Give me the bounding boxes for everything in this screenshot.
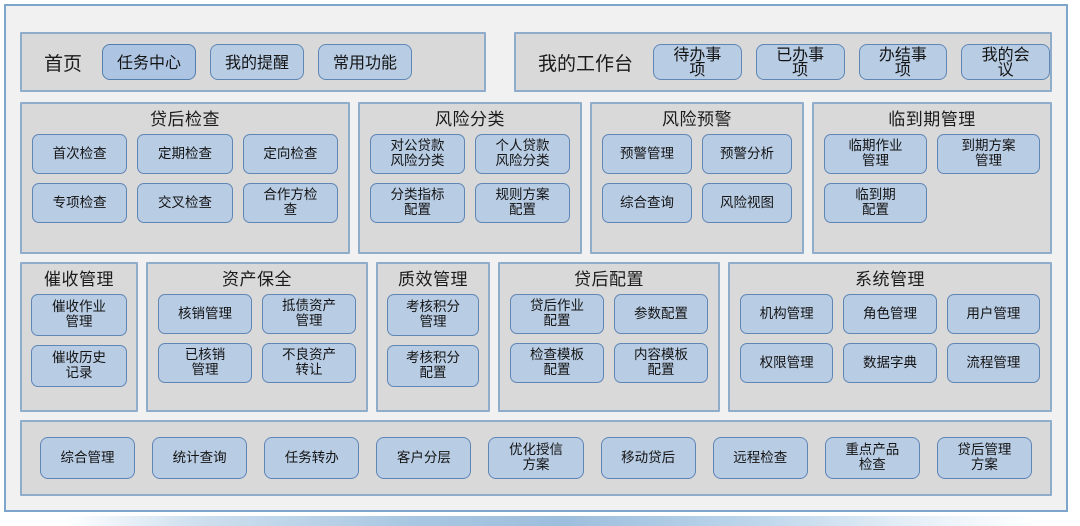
nav-button-done-items[interactable]: 已办事项 [756,44,845,80]
shortcut-button-post-loan-management-scheme[interactable]: 贷后管理 方案 [937,437,1032,479]
panel-risk-warning: 风险预警 预警管理 预警分析 综合查询 风险视图 [590,102,804,254]
menu-button-periodic-inspection[interactable]: 定期检查 [137,134,232,174]
nav-button-my-reminders[interactable]: 我的提醒 [210,44,304,80]
panel-grid-asset-preservation: 核销管理 抵债资产 管理 已核销 管理 不良资产 转让 [148,290,366,383]
panel-risk-classification: 风险分类 对公贷款 风险分类 个人贷款 风险分类 分类指标 配置 规则方案 配置 [358,102,582,254]
my-workbench-bar: 我的工作台 待办事项 已办事项 办结事项 我的会议 [514,32,1052,92]
panel-grid-quality-efficiency-management: 考核积分 管理 考核积分 配置 [378,290,488,387]
menu-button-warning-analysis[interactable]: 预警分析 [702,134,792,174]
shortcut-button-mobile-post-loan[interactable]: 移动贷后 [601,437,696,479]
menu-button-corporate-loan-risk-classification[interactable]: 对公贷款 风险分类 [370,134,465,174]
shortcut-button-key-product-inspection[interactable]: 重点产品 检查 [825,437,920,479]
shortcut-bar-inner: 综合管理 统计查询 任务转办 客户分层 优化授信 方案 移动贷后 远程检查 重点… [22,422,1050,494]
panel-system-management: 系统管理 机构管理 角色管理 用户管理 权限管理 数据字典 流程管理 [728,262,1052,412]
shortcut-bar: 综合管理 统计查询 任务转办 客户分层 优化授信 方案 移动贷后 远程检查 重点… [20,420,1052,496]
nav-button-common-functions[interactable]: 常用功能 [318,44,412,80]
panel-grid-post-loan-config: 贷后作业 配置 参数配置 检查模板 配置 内容模板 配置 [500,290,718,383]
menu-button-risk-view[interactable]: 风险视图 [702,183,792,223]
panel-grid-risk-warning: 预警管理 预警分析 综合查询 风险视图 [592,130,802,223]
panel-post-loan-config: 贷后配置 贷后作业 配置 参数配置 检查模板 配置 内容模板 配置 [498,262,720,412]
menu-button-content-template-config[interactable]: 内容模板 配置 [614,343,708,383]
menu-button-written-off-management[interactable]: 已核销 管理 [158,343,252,383]
panel-grid-post-loan-inspection: 首次检查 定期检查 定向检查 专项检查 交叉检查 合作方检 查 [22,130,348,223]
panel-title-risk-warning: 风险预警 [592,104,802,130]
menu-button-first-inspection[interactable]: 首次检查 [32,134,127,174]
panel-title-system-management: 系统管理 [730,264,1050,290]
panel-title-risk-classification: 风险分类 [360,104,580,130]
shortcut-button-statistical-query[interactable]: 统计查询 [152,437,247,479]
application-frame: 首页 任务中心 我的提醒 常用功能 我的工作台 待办事项 已办事项 办结事项 我… [4,4,1068,512]
panel-grid-collection-management: 催收作业 管理 催收历史 记录 [22,290,136,387]
panel-title-quality-efficiency-management: 质效管理 [378,264,488,290]
shortcut-button-comprehensive-management[interactable]: 综合管理 [40,437,135,479]
menu-button-role-management[interactable]: 角色管理 [843,294,936,334]
shortcut-button-customer-stratification[interactable]: 客户分层 [376,437,471,479]
my-workbench-label: 我的工作台 [538,49,633,76]
menu-button-user-management[interactable]: 用户管理 [947,294,1040,334]
menu-button-assessment-score-config[interactable]: 考核积分 配置 [387,345,479,387]
home-nav-bar: 首页 任务中心 我的提醒 常用功能 [20,32,486,92]
menu-button-parameter-config[interactable]: 参数配置 [614,294,708,334]
panel-grid-maturity-management: 临期作业 管理 到期方案 管理 临到期 配置 [814,130,1050,223]
nav-button-my-meetings[interactable]: 我的会议 [961,44,1050,80]
menu-button-permission-management[interactable]: 权限管理 [740,343,833,383]
panel-collection-management: 催收管理 催收作业 管理 催收历史 记录 [20,262,138,412]
menu-button-warning-management[interactable]: 预警管理 [602,134,692,174]
menu-button-directed-inspection[interactable]: 定向检查 [243,134,338,174]
menu-button-npl-transfer[interactable]: 不良资产 转让 [262,343,356,383]
panel-grid-system-management: 机构管理 角色管理 用户管理 权限管理 数据字典 流程管理 [730,290,1050,383]
my-workbench-inner: 我的工作台 待办事项 已办事项 办结事项 我的会议 [516,34,1050,90]
panel-quality-efficiency-management: 质效管理 考核积分 管理 考核积分 配置 [376,262,490,412]
menu-button-partner-inspection[interactable]: 合作方检 查 [243,183,338,223]
menu-button-maturity-config[interactable]: 临到期 配置 [824,183,927,223]
panel-title-post-loan-config: 贷后配置 [500,264,718,290]
menu-button-cross-inspection[interactable]: 交叉检查 [137,183,232,223]
menu-button-collection-task-management[interactable]: 催收作业 管理 [31,294,127,336]
nav-button-task-center[interactable]: 任务中心 [102,44,196,80]
menu-button-collection-history-record[interactable]: 催收历史 记录 [31,345,127,387]
panel-title-asset-preservation: 资产保全 [148,264,366,290]
menu-button-debt-paying-asset-management[interactable]: 抵债资产 管理 [262,294,356,334]
menu-button-write-off-management[interactable]: 核销管理 [158,294,252,334]
menu-button-comprehensive-query[interactable]: 综合查询 [602,183,692,223]
panel-title-collection-management: 催收管理 [22,264,136,290]
nav-button-completed-items[interactable]: 办结事项 [859,44,948,80]
panel-title-maturity-management: 临到期管理 [814,104,1050,130]
menu-button-inspection-template-config[interactable]: 检查模板 配置 [510,343,604,383]
menu-button-data-dictionary[interactable]: 数据字典 [843,343,936,383]
bottom-glow-decoration [0,516,1080,526]
menu-button-post-loan-task-config[interactable]: 贷后作业 配置 [510,294,604,334]
menu-button-classification-indicator-config[interactable]: 分类指标 配置 [370,183,465,223]
menu-button-rule-scheme-config[interactable]: 规则方案 配置 [475,183,570,223]
home-label: 首页 [44,49,82,76]
menu-button-assessment-score-management[interactable]: 考核积分 管理 [387,294,479,336]
menu-button-near-maturity-task-management[interactable]: 临期作业 管理 [824,134,927,174]
menu-button-maturity-scheme-management[interactable]: 到期方案 管理 [937,134,1040,174]
panel-grid-risk-classification: 对公贷款 风险分类 个人贷款 风险分类 分类指标 配置 规则方案 配置 [360,130,580,223]
panel-post-loan-inspection: 贷后检查 首次检查 定期检查 定向检查 专项检查 交叉检查 合作方检 查 [20,102,350,254]
nav-button-todo-items[interactable]: 待办事项 [653,44,742,80]
menu-button-special-inspection[interactable]: 专项检查 [32,183,127,223]
portal-page: 首页 任务中心 我的提醒 常用功能 我的工作台 待办事项 已办事项 办结事项 我… [6,6,1066,510]
shortcut-button-task-transfer[interactable]: 任务转办 [264,437,359,479]
shortcut-button-optimized-credit-scheme[interactable]: 优化授信 方案 [488,437,583,479]
menu-button-process-management[interactable]: 流程管理 [947,343,1040,383]
menu-button-organization-management[interactable]: 机构管理 [740,294,833,334]
menu-button-personal-loan-risk-classification[interactable]: 个人贷款 风险分类 [475,134,570,174]
panel-maturity-management: 临到期管理 临期作业 管理 到期方案 管理 临到期 配置 [812,102,1052,254]
panel-asset-preservation: 资产保全 核销管理 抵债资产 管理 已核销 管理 不良资产 转让 [146,262,368,412]
shortcut-button-remote-inspection[interactable]: 远程检查 [713,437,808,479]
panel-title-post-loan-inspection: 贷后检查 [22,104,348,130]
home-nav-inner: 首页 任务中心 我的提醒 常用功能 [22,34,484,90]
